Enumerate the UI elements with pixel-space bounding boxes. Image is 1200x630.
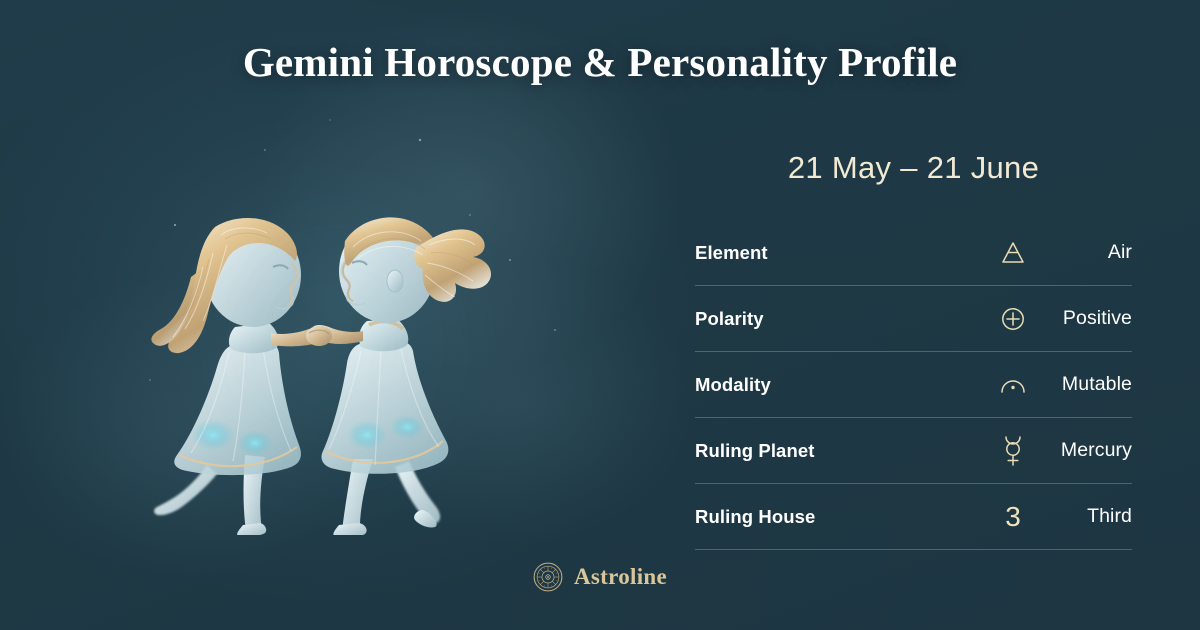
table-row: Ruling House 3 Third — [695, 484, 1132, 550]
attribute-label-modality: Modality — [695, 374, 990, 396]
attribute-value-element: Air — [1036, 241, 1132, 264]
attribute-label-ruling-planet: Ruling Planet — [695, 440, 990, 462]
attribute-value-ruling-planet: Mercury — [1036, 439, 1132, 462]
house-number-glyph: 3 — [1005, 503, 1021, 531]
gemini-twins-illustration — [95, 95, 575, 535]
plus-circle-icon — [990, 306, 1036, 332]
attribute-value-ruling-house: Third — [1036, 505, 1132, 528]
page-title: Gemini Horoscope & Personality Profile — [0, 38, 1200, 86]
attribute-value-modality: Mutable — [1036, 373, 1132, 396]
brand-name: Astroline — [574, 564, 667, 590]
zodiac-wheel-icon — [533, 562, 563, 592]
air-triangle-icon — [990, 240, 1036, 266]
poster-canvas: Gemini Horoscope & Personality Profile — [0, 0, 1200, 630]
attribute-label-polarity: Polarity — [695, 308, 990, 330]
mercury-icon — [990, 435, 1036, 467]
attribute-label-ruling-house: Ruling House — [695, 506, 990, 528]
date-range: 21 May – 21 June — [695, 150, 1132, 186]
attribute-label-element: Element — [695, 242, 990, 264]
table-row: Modality Mutable — [695, 352, 1132, 418]
attributes-table: Element Air Polarity — [695, 220, 1132, 550]
attribute-value-polarity: Positive — [1036, 307, 1132, 330]
table-row: Polarity Positive — [695, 286, 1132, 352]
house-number-3: 3 — [990, 503, 1036, 531]
table-row: Element Air — [695, 220, 1132, 286]
brand-logo[interactable]: Astroline — [0, 562, 1200, 592]
info-panel: 21 May – 21 June Element Air Polarity — [695, 150, 1132, 550]
mutable-arc-icon — [990, 374, 1036, 396]
table-row: Ruling Planet Mercury — [695, 418, 1132, 484]
